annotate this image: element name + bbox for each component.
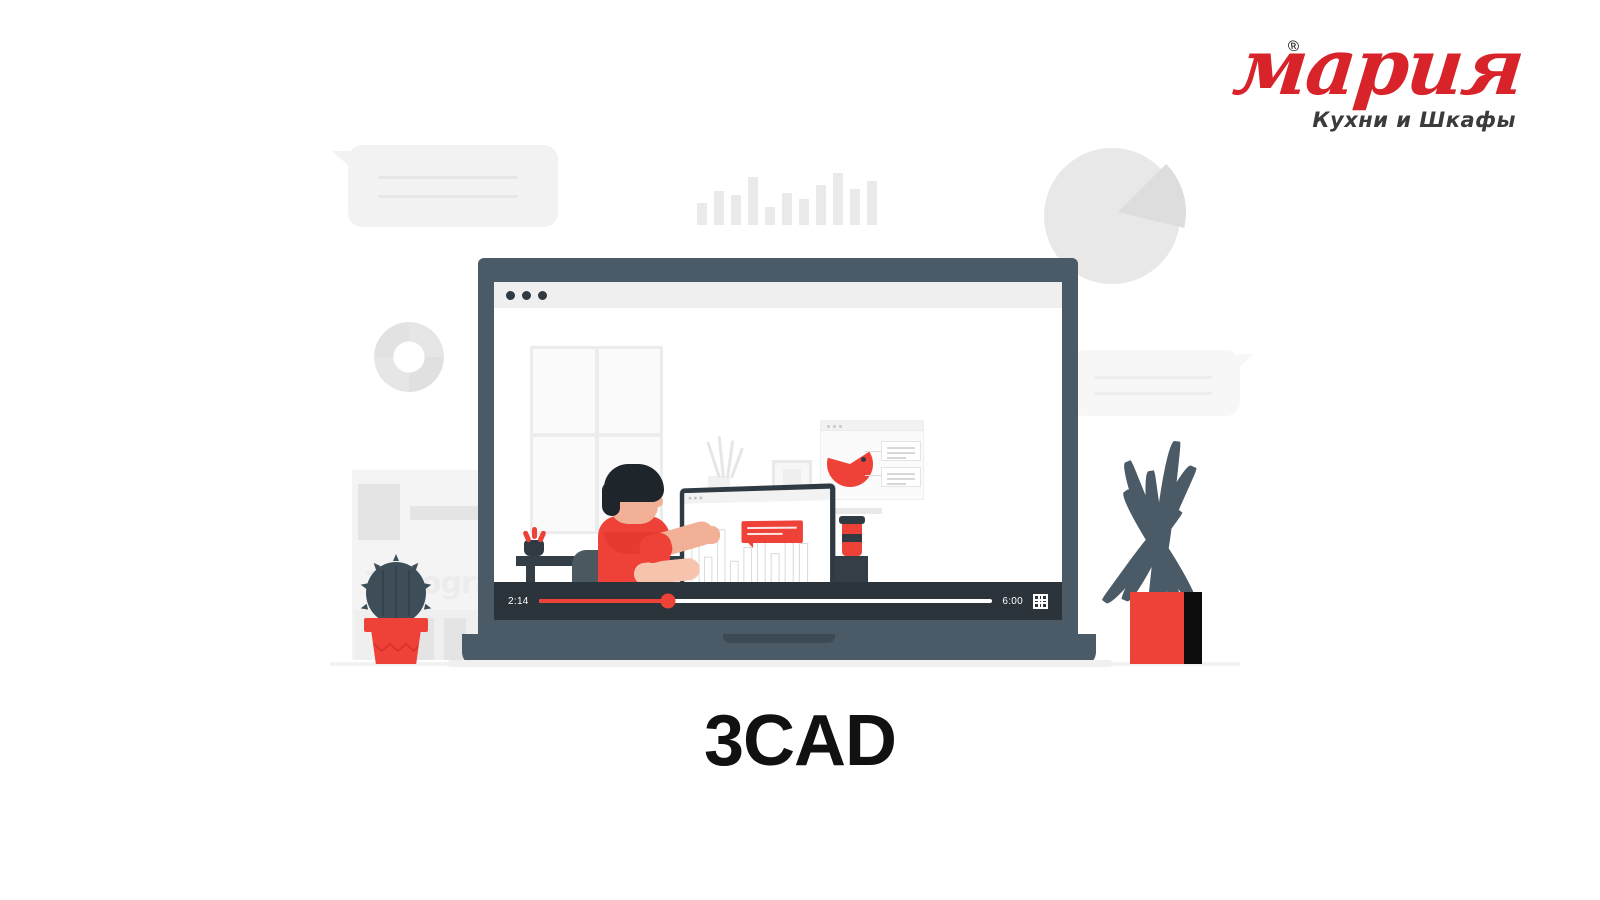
cactus-rib bbox=[395, 566, 397, 620]
bubble-line bbox=[378, 176, 518, 179]
monitor-chart-bar bbox=[743, 547, 752, 587]
card-line bbox=[887, 452, 915, 454]
monitor-chart-bar bbox=[785, 537, 794, 588]
deco-bar bbox=[714, 191, 724, 225]
wall-panel-dot-icon bbox=[839, 425, 842, 428]
page-title: 3CAD bbox=[0, 700, 1600, 782]
video-progress-fill bbox=[539, 599, 668, 603]
cactus-spine bbox=[393, 554, 399, 561]
laptop-lid: 2:14 6:00 bbox=[478, 258, 1078, 640]
monitor-dot-icon bbox=[700, 496, 703, 499]
monitor-dot-icon bbox=[689, 497, 692, 500]
brand-name: мария bbox=[1188, 30, 1526, 106]
bar-chart-decoration bbox=[697, 165, 877, 225]
deco-bar bbox=[697, 203, 707, 225]
person-hand bbox=[700, 526, 720, 544]
deco-bar bbox=[850, 189, 860, 225]
laptop-foot-shadow bbox=[448, 660, 1112, 667]
cactus-body bbox=[366, 562, 426, 624]
wall-panel-pie-chart bbox=[827, 441, 873, 487]
card-line bbox=[887, 473, 915, 475]
wall-panel-card bbox=[881, 441, 921, 461]
cactus-pot-zigzag-pattern bbox=[374, 642, 418, 652]
card-line bbox=[887, 457, 906, 459]
tooltip-line bbox=[747, 527, 797, 529]
current-time-label: 2:14 bbox=[508, 596, 529, 607]
deco-bar bbox=[867, 181, 877, 225]
wall-panel-pie-center-dot bbox=[861, 457, 866, 462]
poster-block bbox=[410, 506, 484, 520]
wall-panel-card bbox=[881, 467, 921, 487]
cactus-rib bbox=[408, 570, 410, 616]
window-minimize-dot-icon[interactable] bbox=[522, 291, 531, 300]
wall-panel-leader-line bbox=[865, 475, 881, 476]
coffee-cup-sleeve bbox=[842, 534, 862, 542]
wall-panel-dot-icon bbox=[827, 425, 830, 428]
wall-panel-leader-line bbox=[865, 451, 881, 452]
speech-bubble-decoration-right bbox=[1070, 350, 1240, 416]
video-scene-illustration bbox=[494, 308, 1062, 620]
wall-dashboard-panel bbox=[820, 420, 924, 500]
wall-panel-dot-icon bbox=[833, 425, 836, 428]
wall-panel-titlebar bbox=[821, 421, 923, 431]
bubble-line bbox=[1094, 376, 1212, 379]
browser-chrome-bar bbox=[494, 282, 1062, 308]
bubble-line bbox=[1094, 392, 1212, 395]
bubble-line bbox=[378, 195, 518, 198]
fullscreen-icon[interactable] bbox=[1033, 594, 1048, 609]
deco-bar bbox=[799, 199, 809, 225]
card-line bbox=[887, 478, 915, 480]
video-control-bar[interactable]: 2:14 6:00 bbox=[494, 582, 1062, 620]
monitor-chart-tooltip bbox=[741, 520, 802, 543]
window-mullion-horizontal bbox=[533, 433, 660, 437]
deco-bar bbox=[782, 193, 792, 225]
fullscreen-corner bbox=[1038, 599, 1048, 609]
donut-chart-decoration bbox=[374, 322, 444, 392]
bubble-tail bbox=[332, 151, 350, 167]
window-maximize-dot-icon[interactable] bbox=[538, 291, 547, 300]
plant-pot-red bbox=[1130, 592, 1184, 664]
laptop-screen: 2:14 6:00 bbox=[494, 282, 1062, 620]
plant-pot-shadow bbox=[1184, 592, 1202, 664]
cactus-spine bbox=[360, 582, 368, 589]
person-hair-side bbox=[602, 482, 620, 516]
monitor-app-titlebar bbox=[684, 489, 830, 504]
bubble-tail bbox=[1238, 354, 1254, 368]
window-close-dot-icon[interactable] bbox=[506, 291, 515, 300]
brand-logo: мария ® Кухни и Шкафы bbox=[1192, 30, 1522, 138]
video-progress-handle[interactable] bbox=[660, 594, 675, 609]
card-line bbox=[887, 447, 915, 449]
window-mullion-vertical bbox=[595, 349, 599, 531]
total-time-label: 6:00 bbox=[1002, 596, 1023, 607]
deco-bar bbox=[748, 177, 758, 225]
tooltip-line bbox=[747, 533, 782, 535]
deco-bar bbox=[816, 185, 826, 225]
card-line bbox=[887, 483, 906, 485]
registered-trademark-icon: ® bbox=[1287, 38, 1300, 55]
deco-bar bbox=[731, 195, 741, 225]
succulent-leaf bbox=[532, 527, 537, 539]
monitor-dot-icon bbox=[694, 497, 697, 500]
deco-bar bbox=[833, 173, 843, 225]
cactus-rib bbox=[382, 570, 384, 616]
deco-bar bbox=[765, 207, 775, 225]
poster-block bbox=[358, 484, 400, 540]
video-progress-bar[interactable] bbox=[539, 599, 993, 603]
coffee-cup-lid bbox=[839, 516, 865, 524]
speech-bubble-decoration-left bbox=[348, 145, 558, 227]
poster-canvas: Typogra мария ® Кухни и Шкафы bbox=[0, 0, 1600, 900]
